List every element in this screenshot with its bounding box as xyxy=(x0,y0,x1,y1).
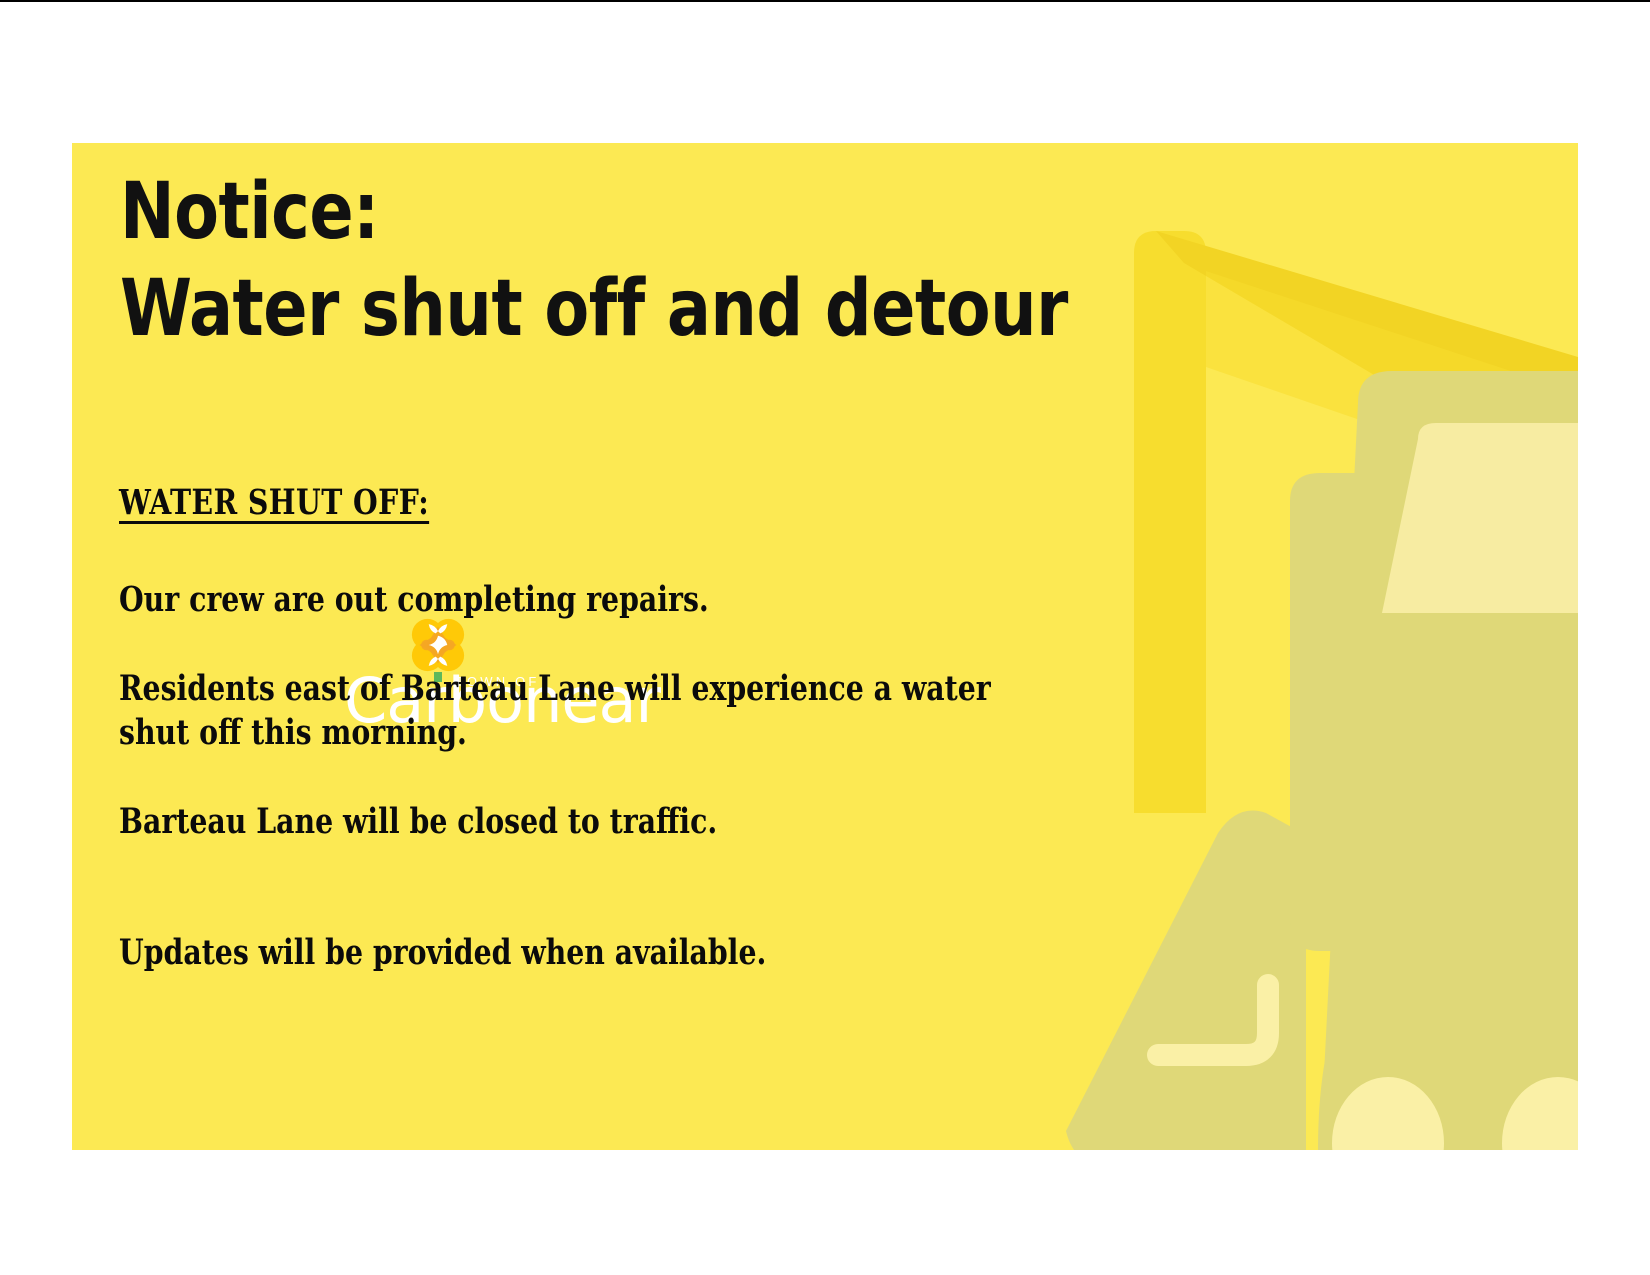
notice-panel: TOWN OF Carbonear Notice: Water shut off… xyxy=(72,143,1578,1150)
page-title-line-2: Water shut off and detour xyxy=(120,268,1106,351)
page-title-line-1: Notice: xyxy=(120,171,1106,254)
excavator-boom-icon xyxy=(1134,231,1578,813)
spacer xyxy=(119,526,1129,578)
notice-subheading: WATER SHUT OFF: xyxy=(119,481,1028,526)
notice-paragraph-1: Our crew are out completing repairs. xyxy=(119,578,1028,623)
spacer xyxy=(119,756,1129,800)
notice-paragraph-2: Residents east of Barteau Lane will expe… xyxy=(119,667,1028,757)
notice-paragraph-4: Updates will be provided when available. xyxy=(119,931,1028,976)
notice-body: WATER SHUT OFF: Our crew are out complet… xyxy=(119,481,1129,976)
spacer xyxy=(119,845,1129,931)
page-title: Notice: Water shut off and detour xyxy=(120,171,1180,350)
excavator-wheels-icon xyxy=(1332,1077,1578,1150)
notice-graphic-page: { "page": { "background_color": "#FFFFFF… xyxy=(0,0,1650,1275)
excavator-cab-icon xyxy=(1290,371,1578,1150)
notice-paragraph-3: Barteau Lane will be closed to traffic. xyxy=(119,800,1028,845)
spacer xyxy=(119,623,1129,667)
